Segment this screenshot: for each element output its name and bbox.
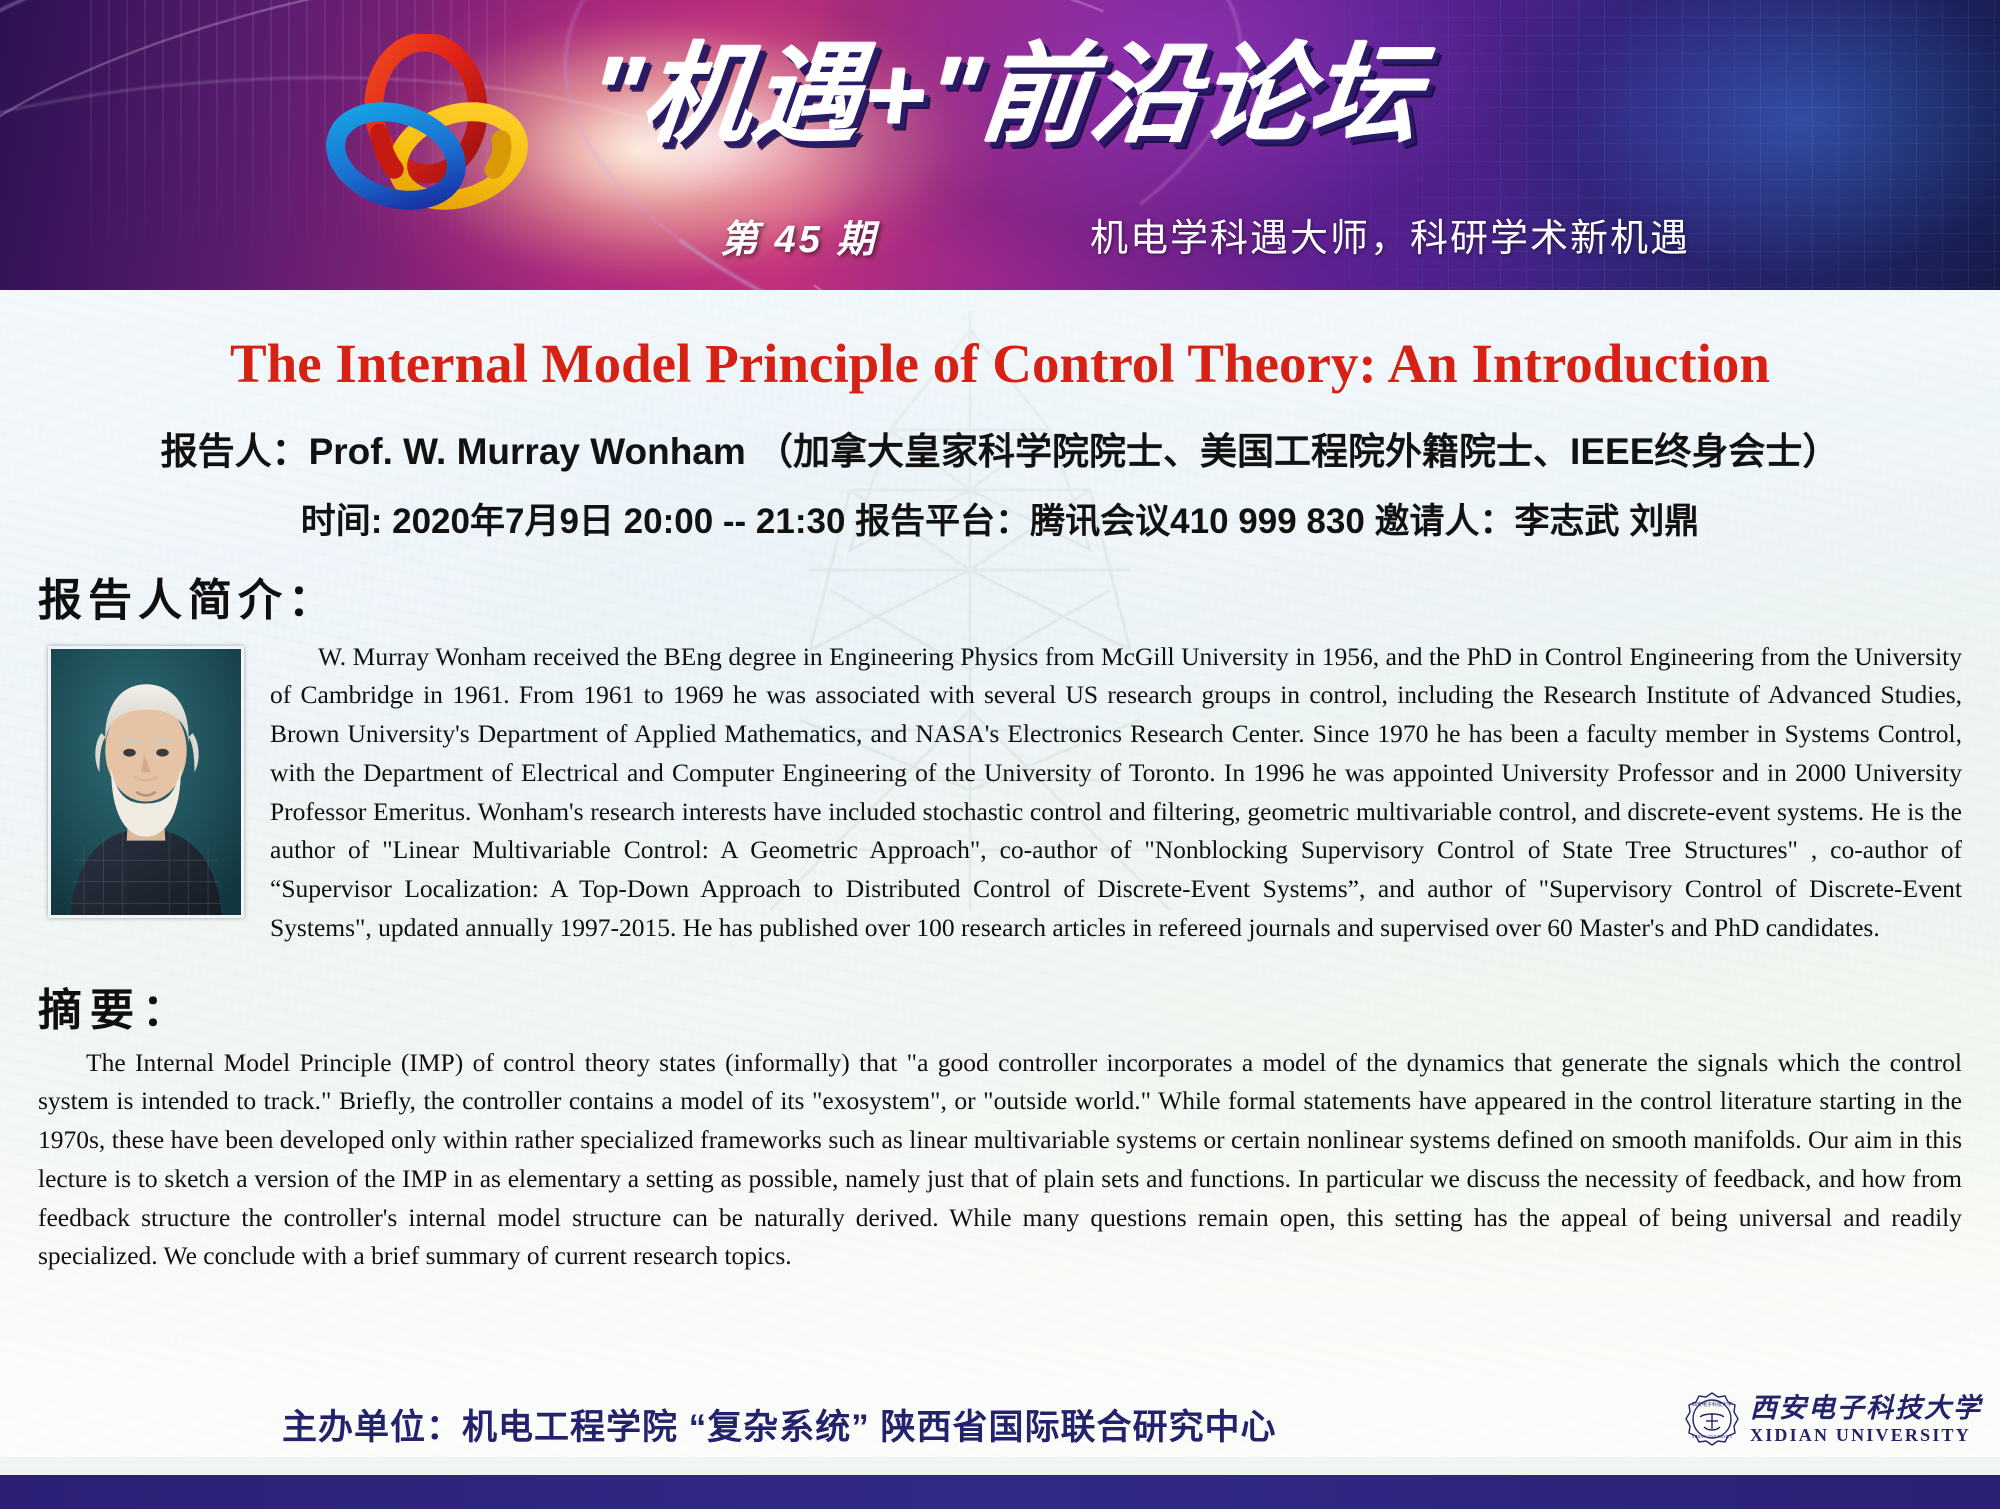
poster-footer: 主办单位：机电工程学院 “复杂系统” 陕西省国际联合研究中心 西安电子科技大学 xyxy=(0,1457,2000,1509)
footer-bottom-bar xyxy=(0,1475,2000,1509)
svg-text:XIDIAN UNIVERSITY: XIDIAN UNIVERSITY xyxy=(1691,1434,1732,1439)
abstract-section-heading: 摘要： xyxy=(38,974,1962,1038)
university-name-cn: 西安电子科技大学 xyxy=(1750,1395,1982,1422)
footer-content: 主办单位：机电工程学院 “复杂系统” 陕西省国际联合研究中心 西安电子科技大学 xyxy=(0,1395,2000,1465)
speaker-info-line: 报告人：Prof. W. Murray Wonham （加拿大皇家科学院院士、美… xyxy=(38,421,1962,475)
poster-body: The Internal Model Principle of Control … xyxy=(0,290,2000,1457)
svg-text:西安电子科技大学: 西安电子科技大学 xyxy=(1692,1401,1732,1408)
poster-root: "机遇+"前沿论坛 第 45 期 机电学科遇大师，科研学术新机遇 xyxy=(0,0,2000,1509)
speaker-avatar xyxy=(48,646,244,918)
university-logo: 西安电子科技大学 XIDIAN UNIVERSITY 西安电子科技大学 XIDI… xyxy=(1684,1391,1982,1447)
bio-paragraph: W. Murray Wonham received the BEng degre… xyxy=(38,638,1962,948)
university-name-block: 西安电子科技大学 XIDIAN UNIVERSITY xyxy=(1750,1395,1982,1444)
banner-title: "机遇+"前沿论坛 xyxy=(584,38,1427,151)
three-interlocking-rings-logo-icon xyxy=(318,34,538,224)
content-inner: The Internal Model Principle of Control … xyxy=(0,334,2000,1276)
time-and-platform-line: 时间: 2020年7月9日 20:00 -- 21:30 报告平台：腾讯会议41… xyxy=(38,493,1962,544)
bio-section-heading: 报告人简介： xyxy=(38,564,1962,628)
xidian-university-seal-icon: 西安电子科技大学 XIDIAN UNIVERSITY xyxy=(1684,1391,1740,1447)
banner-subtitle: 机电学科遇大师，科研学术新机遇 xyxy=(1090,207,1690,262)
university-name-en: XIDIAN UNIVERSITY xyxy=(1750,1426,1982,1444)
bio-block: W. Murray Wonham received the BEng degre… xyxy=(38,638,1962,948)
page-title: The Internal Model Principle of Control … xyxy=(38,334,1962,395)
banner-issue-number: 第 45 期 xyxy=(720,208,877,263)
abstract-paragraph: The Internal Model Principle (IMP) of co… xyxy=(38,1044,1962,1277)
header-banner: "机遇+"前沿论坛 第 45 期 机电学科遇大师，科研学术新机遇 xyxy=(0,0,2000,290)
organizer-line: 主办单位：机电工程学院 “复杂系统” 陕西省国际联合研究中心 xyxy=(282,1399,1276,1450)
